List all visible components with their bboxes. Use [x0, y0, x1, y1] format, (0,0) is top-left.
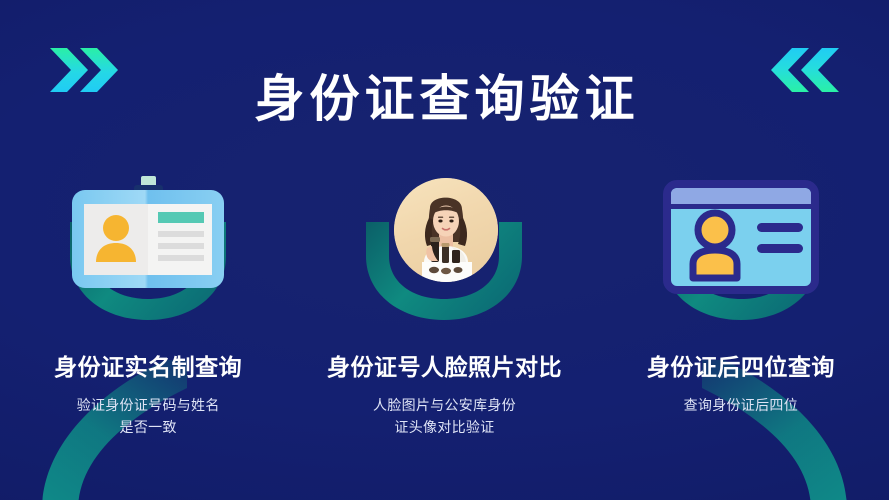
card-description-line: 人脸图片与公安库身份: [373, 394, 516, 416]
poster-root: 身份证查询验证: [0, 0, 889, 500]
card-description-line: 是否一致: [77, 416, 220, 438]
feature-card-last-four-digits-query[interactable]: 身份证后四位查询 查询身份证后四位: [593, 170, 889, 480]
feature-card-list: 身份证实名制查询 验证身份证号码与姓名 是否一致: [0, 170, 889, 480]
card-artwork: [641, 170, 841, 340]
card-artwork: [48, 170, 248, 340]
header: 身份证查询验证: [0, 0, 889, 140]
card-description-line: 查询身份证后四位: [684, 394, 798, 416]
card-title: 身份证后四位查询: [647, 352, 835, 382]
card-description: 查询身份证后四位: [684, 394, 798, 416]
page-title: 身份证查询验证: [0, 70, 889, 128]
portrait-photo-icon: [394, 178, 498, 282]
card-description: 人脸图片与公安库身份 证头像对比验证: [373, 394, 516, 438]
card-title: 身份证实名制查询: [54, 352, 242, 382]
feature-card-face-photo-compare[interactable]: 身份证号人脸照片对比 人脸图片与公安库身份 证头像对比验证: [296, 170, 592, 480]
double-chevron-left-icon: [767, 47, 839, 93]
card-description-line: 证头像对比验证: [373, 416, 516, 438]
card-title: 身份证号人脸照片对比: [327, 352, 562, 382]
card-description: 验证身份证号码与姓名 是否一致: [77, 394, 220, 438]
card-description-line: 验证身份证号码与姓名: [77, 394, 220, 416]
feature-card-realname-query[interactable]: 身份证实名制查询 验证身份证号码与姓名 是否一致: [0, 170, 296, 480]
id-badge-card-icon: [48, 170, 248, 340]
card-artwork: [344, 170, 544, 340]
id-card-outline-icon: [641, 170, 841, 340]
